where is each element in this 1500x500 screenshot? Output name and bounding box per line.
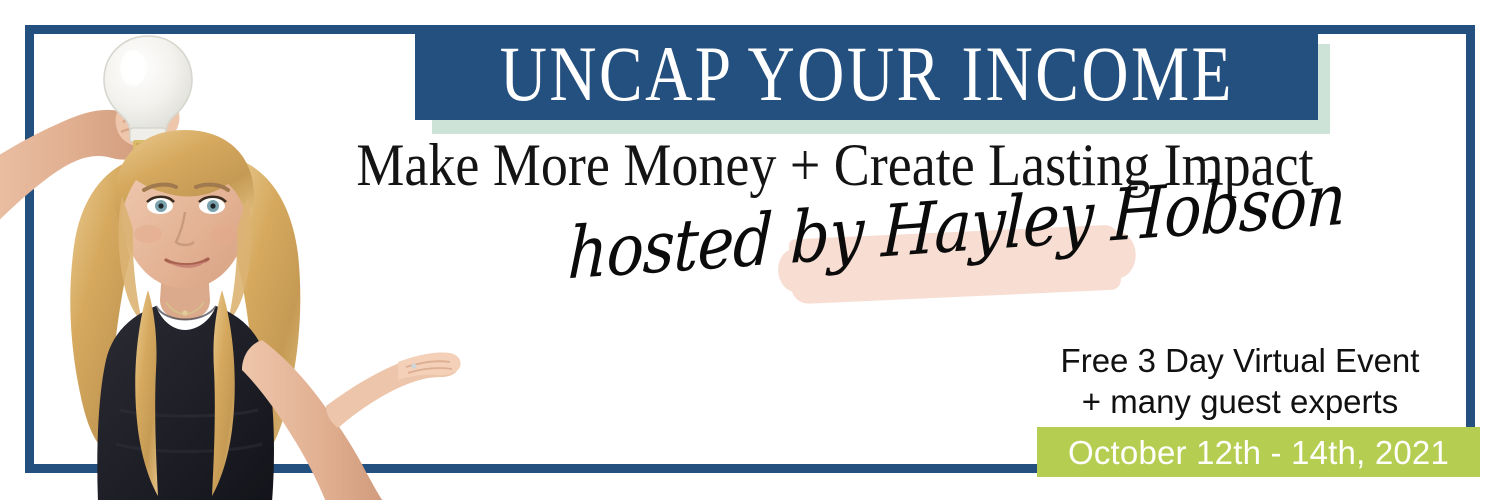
banner-title: UNCAP YOUR INCOME (499, 36, 1233, 114)
host-line-group: hosted by Hayley Hobson (560, 212, 1140, 317)
event-date: October 12th - 14th, 2021 (1068, 436, 1449, 469)
event-info-block: Free 3 Day Virtual Event + many guest ex… (1010, 340, 1480, 422)
info-line-1: Free 3 Day Virtual Event (1010, 340, 1480, 381)
title-bar: UNCAP YOUR INCOME (415, 30, 1318, 120)
info-line-2: + many guest experts (1010, 381, 1480, 422)
event-date-bar: October 12th - 14th, 2021 (1037, 427, 1480, 477)
event-promo-banner: UNCAP YOUR INCOME Make More Money + Crea… (0, 0, 1500, 500)
